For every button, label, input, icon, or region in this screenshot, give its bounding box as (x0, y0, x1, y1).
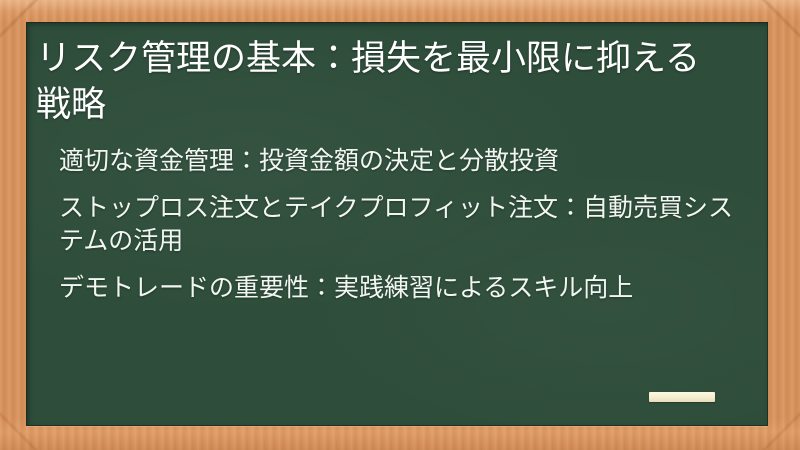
chalkboard-content: リスク管理の基本：損失を最小限に抑える戦略 適切な資金管理：投資金額の決定と分散… (26, 22, 768, 426)
chalkboard-surface: リスク管理の基本：損失を最小限に抑える戦略 適切な資金管理：投資金額の決定と分散… (26, 22, 768, 426)
blackboard-slide: リスク管理の基本：損失を最小限に抑える戦略 適切な資金管理：投資金額の決定と分散… (0, 0, 800, 450)
bullet-list: 適切な資金管理：投資金額の決定と分散投資 ストップロス注文とテイクプロフィット注… (36, 145, 752, 305)
slide-title: リスク管理の基本：損失を最小限に抑える戦略 (36, 30, 752, 127)
list-item: 適切な資金管理：投資金額の決定と分散投資 (59, 145, 742, 178)
list-item: デモトレードの重要性：実践練習によるスキル向上 (59, 272, 742, 305)
chalk-stick-icon (649, 392, 715, 402)
list-item: ストップロス注文とテイクプロフィット注文：自動売買システムの活用 (59, 192, 742, 258)
